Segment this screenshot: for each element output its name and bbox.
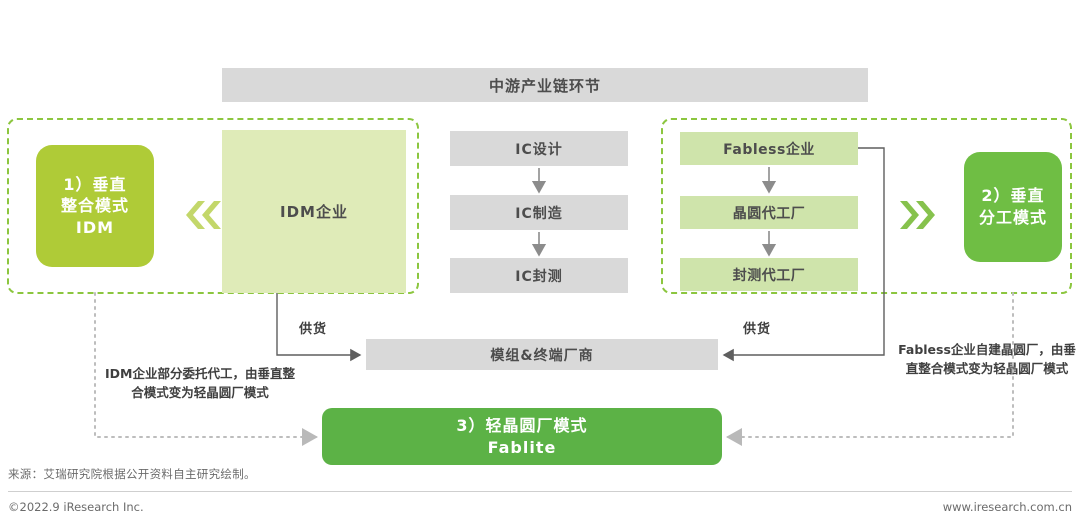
box-ic-manufacturing: IC制造 (450, 195, 628, 230)
footer-divider (8, 491, 1072, 492)
box-ic-packaging-test: IC封测 (450, 258, 628, 293)
box-packaging-test-foundry: 封测代工厂 (680, 258, 858, 291)
website-url: www.iresearch.com.cn (943, 500, 1072, 514)
box-packaging-test-foundry-label: 封测代工厂 (733, 265, 806, 285)
supply-label-left: 供货 (278, 318, 348, 336)
source-note: 来源：艾瑞研究院根据公开资料自主研究绘制。 (8, 466, 256, 482)
chevron-double-left-icon (176, 196, 224, 234)
box-ic-design: IC设计 (450, 131, 628, 166)
midstream-header-title: 中游产业链环节 (489, 75, 601, 96)
supply-label-right: 供货 (722, 318, 792, 336)
box-wafer-foundry: 晶圆代工厂 (680, 196, 858, 229)
box-module-terminal-vendor-label: 模组&终端厂商 (490, 345, 593, 365)
box-wafer-foundry-label: 晶圆代工厂 (733, 203, 806, 223)
box-fabless-enterprise: Fabless企业 (680, 132, 858, 165)
note-idm-to-fablite: IDM企业部分委托代工，由垂直整合模式变为轻晶圆厂模式 (105, 365, 295, 403)
chevron-double-right-icon (896, 196, 944, 234)
copyright-text: ©2022.9 iResearch Inc. (8, 500, 144, 514)
mode-badge-idm[interactable]: 1）垂直 整合模式 IDM (36, 145, 154, 267)
box-idm-enterprise: IDM企业 (222, 130, 406, 293)
mode-badge-fablite[interactable]: 3）轻晶圆厂模式 Fablite (322, 408, 722, 465)
mode-badge-division-line2: 分工模式 (979, 207, 1047, 229)
mode-badge-fablite-line1: 3）轻晶圆厂模式 (456, 415, 587, 437)
mode-badge-idm-line1: 1）垂直 (63, 174, 126, 196)
mode-badge-division-line1: 2）垂直 (981, 185, 1044, 207)
mode-badge-idm-line2: 整合模式 (61, 195, 129, 217)
midstream-header-bar: 中游产业链环节 (222, 68, 868, 102)
note-fabless-to-fablite: Fabless企业自建晶圆厂，由垂直整合模式变为轻晶圆厂模式 (898, 341, 1076, 379)
box-fabless-enterprise-label: Fabless企业 (723, 139, 815, 159)
mode-badge-idm-line3: IDM (76, 217, 114, 239)
mode-badge-division[interactable]: 2）垂直 分工模式 (964, 152, 1062, 262)
box-ic-design-label: IC设计 (515, 139, 562, 159)
box-module-terminal-vendor: 模组&终端厂商 (366, 339, 718, 370)
diagram-canvas: 中游产业链环节 1）垂直 整合模式 IDM IDM企业 IC设计 IC制造 IC… (0, 0, 1080, 526)
mode-badge-fablite-line2: Fablite (488, 437, 557, 459)
box-ic-manufacturing-label: IC制造 (515, 203, 562, 223)
box-idm-enterprise-label: IDM企业 (280, 201, 348, 222)
box-ic-packaging-test-label: IC封测 (515, 266, 562, 286)
